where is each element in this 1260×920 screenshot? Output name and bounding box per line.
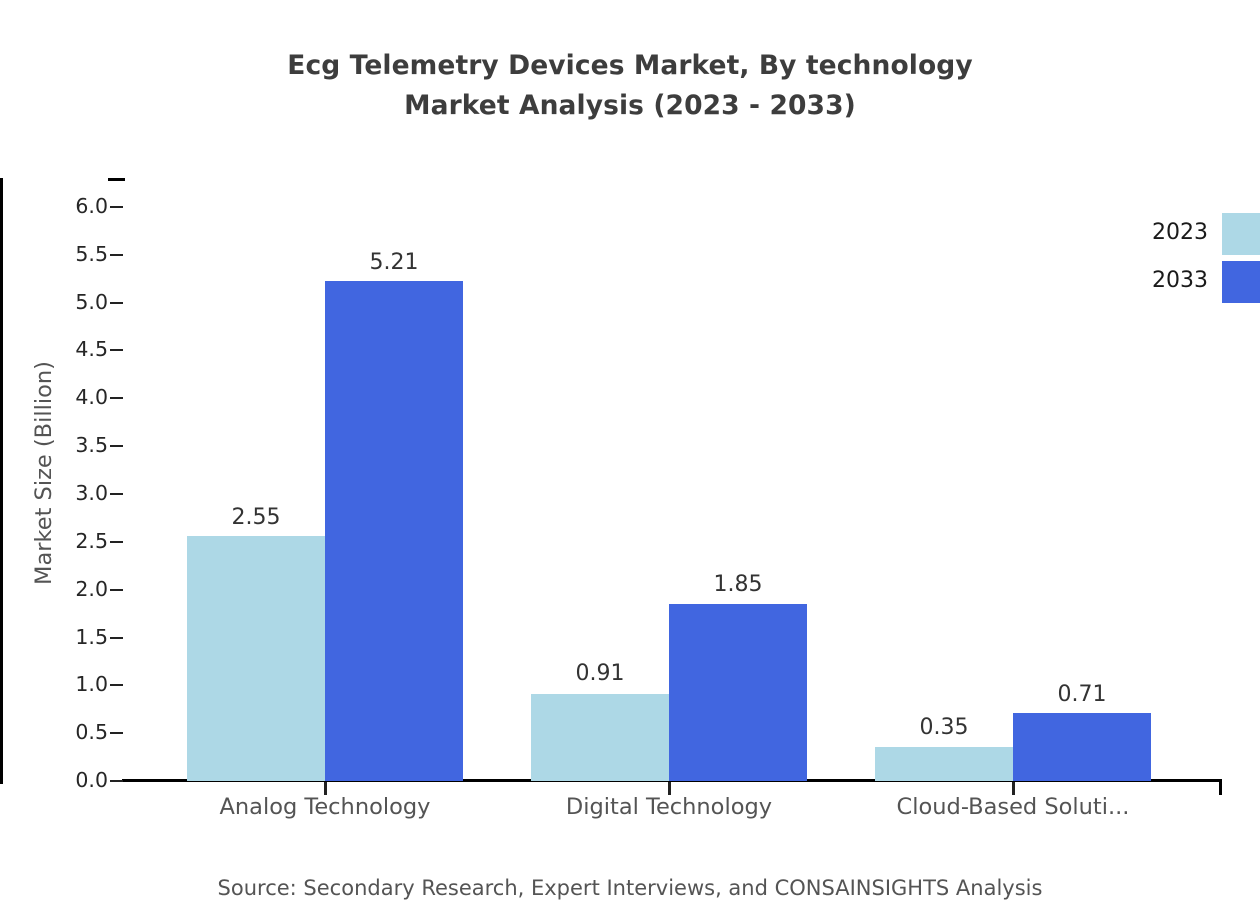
y-axis-top-cap xyxy=(108,178,125,181)
y-tick-12 xyxy=(110,206,123,208)
y-tick-2 xyxy=(110,684,123,686)
bar-2033-analog-technology[interactable] xyxy=(325,281,463,781)
y-tick-label-6: 3.0 xyxy=(38,483,108,503)
bar-2033-digital-technology[interactable] xyxy=(669,604,807,781)
bar-value-2033-cloud-based-solutions: 0.71 xyxy=(1013,682,1151,707)
y-tick-label-1: 0.5 xyxy=(38,722,108,742)
y-axis-spine xyxy=(0,178,3,784)
x-tick-label-digital-technology: Digital Technology xyxy=(499,794,839,820)
chart-figure: Ecg Telemetry Devices Market, By technol… xyxy=(0,0,1260,920)
x-axis-right-cap xyxy=(1219,779,1222,795)
y-tick-4 xyxy=(110,589,123,591)
bar-2023-digital-technology[interactable] xyxy=(531,694,669,781)
legend-item-2033[interactable]: 2033 xyxy=(1120,261,1260,303)
x-tick-label-analog-technology: Analog Technology xyxy=(155,794,495,820)
y-tick-11 xyxy=(110,254,123,256)
y-tick-8 xyxy=(110,397,123,399)
y-tick-1 xyxy=(110,732,123,734)
y-tick-label-0: 0.0 xyxy=(38,770,108,790)
x-tick-label-cloud-based-solutions: Cloud-Based Soluti... xyxy=(843,794,1183,820)
y-tick-label-3: 1.5 xyxy=(38,627,108,647)
chart-title-line-1: Ecg Telemetry Devices Market, By technol… xyxy=(0,46,1260,86)
bar-value-2033-analog-technology: 5.21 xyxy=(325,250,463,275)
legend-label-2033: 2033 xyxy=(1120,268,1208,293)
y-tick-label-4: 2.0 xyxy=(38,579,108,599)
y-tick-label-7: 3.5 xyxy=(38,435,108,455)
y-tick-label-10: 5.0 xyxy=(38,292,108,312)
y-tick-7 xyxy=(110,445,123,447)
source-note: Source: Secondary Research, Expert Inter… xyxy=(0,876,1260,900)
legend-item-2023[interactable]: 2023 xyxy=(1120,213,1260,255)
bar-2033-cloud-based-solutions[interactable] xyxy=(1013,713,1151,781)
y-tick-label-2: 1.0 xyxy=(38,674,108,694)
y-tick-label-8: 4.0 xyxy=(38,387,108,407)
y-tick-label-9: 4.5 xyxy=(38,339,108,359)
legend-swatch-2033 xyxy=(1222,261,1260,303)
bar-value-2033-digital-technology: 1.85 xyxy=(669,572,807,597)
chart-legend: 2023 2033 xyxy=(1120,213,1260,309)
y-tick-label-11: 5.5 xyxy=(38,244,108,264)
legend-swatch-2023 xyxy=(1222,213,1260,255)
bar-value-2023-cloud-based-solutions: 0.35 xyxy=(875,715,1013,740)
chart-title: Ecg Telemetry Devices Market, By technol… xyxy=(0,46,1260,126)
bar-value-2023-digital-technology: 0.91 xyxy=(531,661,669,686)
y-tick-5 xyxy=(110,541,123,543)
y-tick-9 xyxy=(110,349,123,351)
legend-label-2023: 2023 xyxy=(1120,220,1208,245)
y-tick-0 xyxy=(110,780,123,782)
bar-value-2023-analog-technology: 2.55 xyxy=(187,505,325,530)
chart-title-line-2: Market Analysis (2023 - 2033) xyxy=(0,86,1260,126)
y-tick-10 xyxy=(110,302,123,304)
y-axis-title: Market Size (Billion) xyxy=(31,213,57,733)
y-tick-6 xyxy=(110,493,123,495)
y-tick-label-12: 6.0 xyxy=(38,196,108,216)
bar-2023-cloud-based-solutions[interactable] xyxy=(875,747,1013,781)
y-tick-label-5: 2.5 xyxy=(38,531,108,551)
bar-2023-analog-technology[interactable] xyxy=(187,536,325,781)
y-tick-3 xyxy=(110,637,123,639)
